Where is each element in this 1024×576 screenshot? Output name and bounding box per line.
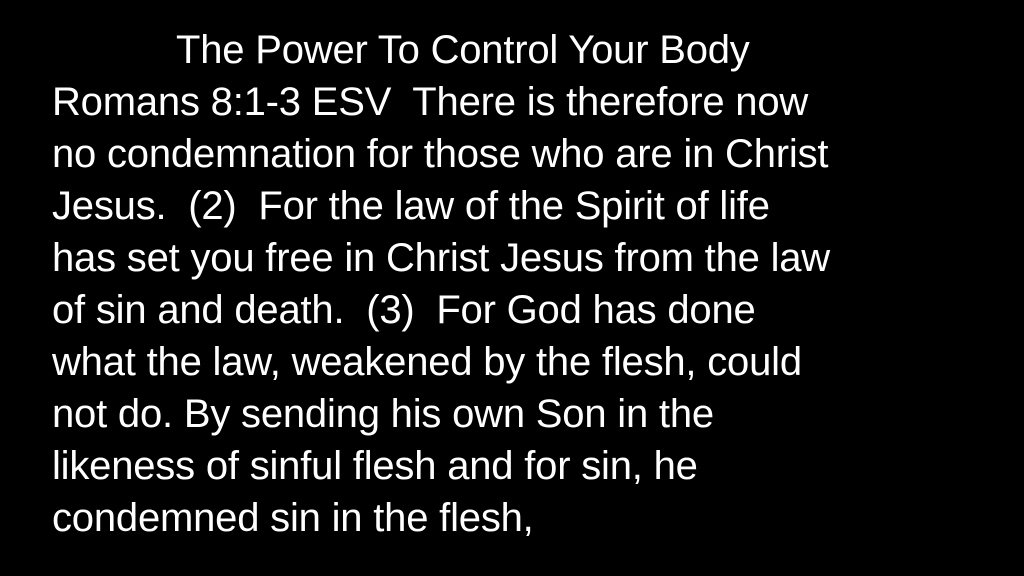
slide-body-line-6: what the law, weakened by the flesh, cou…: [52, 336, 982, 388]
scripture-slide: The Power To Control Your Body Romans 8:…: [0, 0, 1024, 576]
slide-body-line-5: of sin and death. (3) For God has done: [52, 284, 982, 336]
slide-body-line-8: likeness of sinful flesh and for sin, he: [52, 440, 982, 492]
slide-body-line-2: no condemnation for those who are in Chr…: [52, 128, 982, 180]
slide-body-line-1: Romans 8:1-3 ESV There is therefore now: [52, 76, 982, 128]
slide-body-line-9: condemned sin in the flesh,: [52, 492, 982, 544]
slide-text-block: The Power To Control Your Body Romans 8:…: [52, 24, 982, 544]
slide-body-line-7: not do. By sending his own Son in the: [52, 388, 982, 440]
slide-body-line-3: Jesus. (2) For the law of the Spirit of …: [52, 180, 982, 232]
slide-title: The Power To Control Your Body: [52, 24, 982, 76]
slide-body-line-4: has set you free in Christ Jesus from th…: [52, 232, 982, 284]
